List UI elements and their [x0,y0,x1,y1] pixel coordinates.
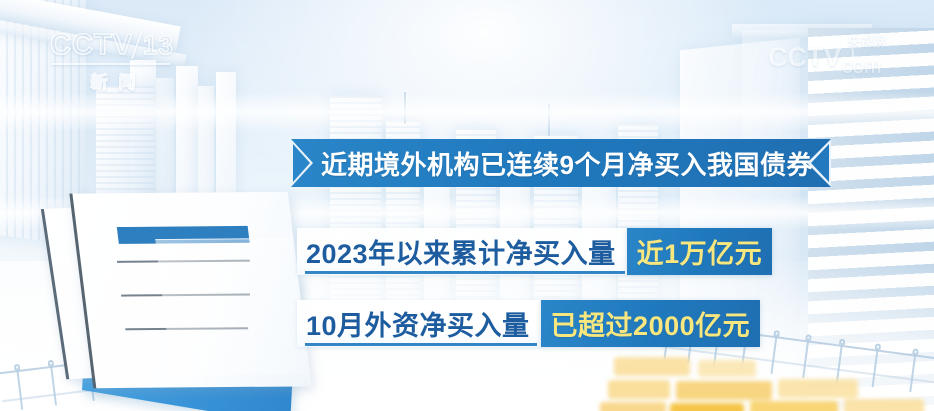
antenna-2 [548,104,550,136]
broadcast-screen: CCTV 13 新闻 CCTV 央视网 com 近期境外机构已连续9个月净买入我… [0,0,934,411]
gold-bar [608,380,670,399]
stat-value: 近1万亿元 [627,228,773,275]
gold-bar [844,399,924,411]
gold-bar [670,403,744,411]
document-sheet-overlay [155,238,309,375]
chevron-right-icon [291,139,313,187]
gold-bar [750,401,838,411]
document-stack-illustration [46,186,314,411]
stat-label-underline [305,271,625,274]
gold-bar [698,360,756,377]
logo-underline [52,63,170,65]
logo-channel-name: 新闻 [50,68,175,93]
stat-label: 10月外资净买入量 [297,300,541,347]
gold-bar [778,379,858,398]
headline-text: 近期境外机构已连续9个月净买入我国债券 [321,139,803,187]
gold-bars-illustration [604,353,904,411]
stat-row: 10月外资净买入量 已超过2000亿元 [297,300,760,347]
stat-row: 2023年以来累计净买入量 近1万亿元 [297,228,772,275]
gold-bar [600,402,666,411]
gold-bar [676,381,772,400]
stat-label: 2023年以来累计净买入量 [297,228,627,275]
stat-value: 已超过2000亿元 [541,300,761,347]
logo-row-brand: CCTV 13 [50,28,175,62]
antenna-1 [404,92,406,124]
headline-banner: 近期境外机构已连续9个月净买入我国债券 [291,139,831,187]
stat-label-text: 10月外资净买入量 [306,304,530,343]
stat-label-underline [305,343,537,346]
gold-bar [614,357,690,376]
stat-label-text: 2023年以来累计净买入量 [306,232,616,271]
logo-brand-text: CCTV [50,31,133,60]
cctv-13-logo: CCTV 13 新闻 [50,28,175,90]
logo-channel-number: 13 [143,32,174,58]
